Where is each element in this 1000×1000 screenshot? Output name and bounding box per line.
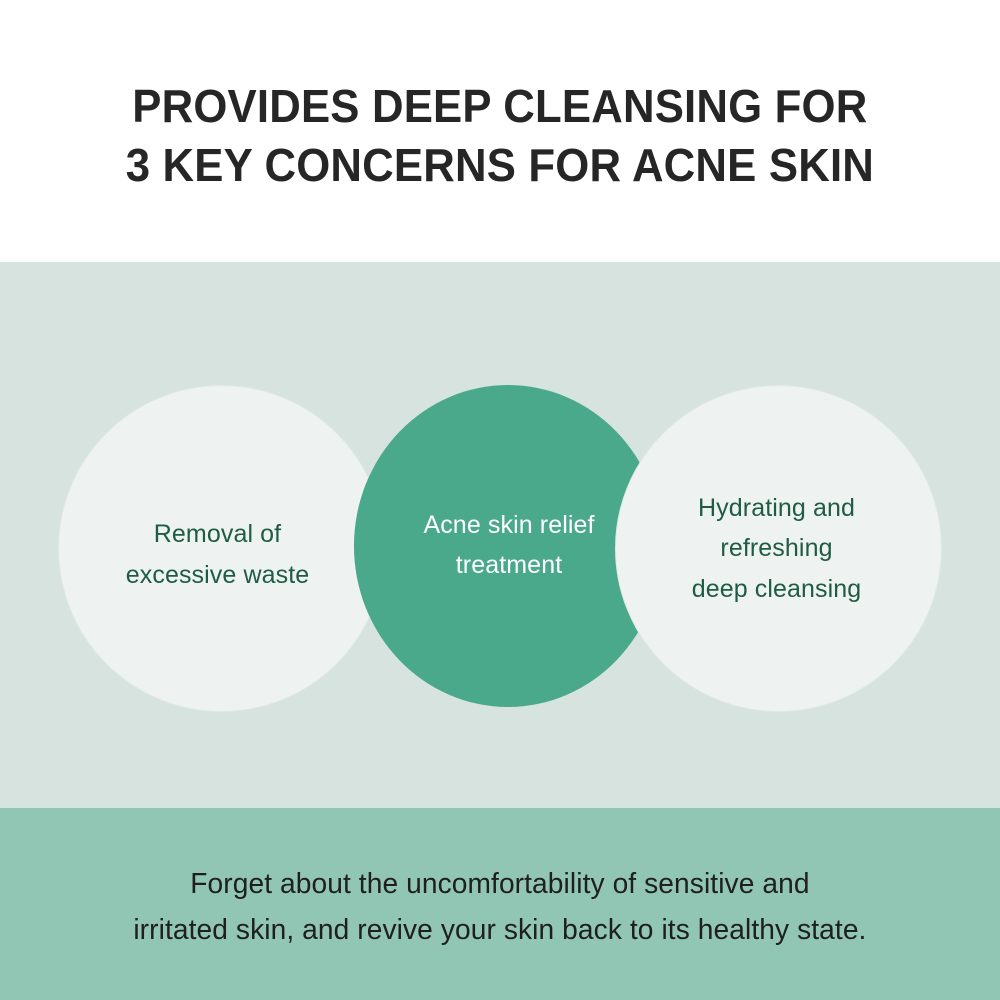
venn-circle-right: Hydrating and refreshing deep cleansing [615,385,942,712]
venn-circle-left-label-line-1: Removal of [126,514,310,555]
venn-circle-center-label: Acne skin relief treatment [397,505,620,586]
page-title-line-2: 3 KEY CONCERNS FOR ACNE SKIN [126,136,874,195]
venn-circle-center-label-line-2: treatment [423,545,594,586]
venn-circle-right-label-line-1: Hydrating and [692,488,862,529]
header-band: PROVIDES DEEP CLEANSING FOR 3 KEY CONCER… [0,0,1000,262]
footer-description: Forget about the uncomfortability of sen… [133,862,866,954]
venn-circle-left: Removal of excessive waste [58,385,385,712]
diagram-band: Removal of excessive waste Acne skin rel… [0,262,1000,808]
footer-band: Forget about the uncomfortability of sen… [0,808,1000,1000]
product-infographic-page: PROVIDES DEEP CLEANSING FOR 3 KEY CONCER… [0,0,1000,1000]
venn-circle-left-label-line-2: excessive waste [126,555,310,596]
footer-description-line-1: Forget about the uncomfortability of sen… [133,862,866,908]
page-title-line-1: PROVIDES DEEP CLEANSING FOR [126,77,874,136]
venn-circle-left-label: Removal of excessive waste [100,514,336,595]
page-title: PROVIDES DEEP CLEANSING FOR 3 KEY CONCER… [126,77,874,195]
venn-circle-right-label-line-3: deep cleansing [692,569,862,610]
footer-description-line-2: irritated skin, and revive your skin bac… [133,908,866,954]
venn-circle-right-label-line-2: refreshing [692,528,862,569]
venn-circle-center-label-line-1: Acne skin relief [423,505,594,546]
venn-diagram: Removal of excessive waste Acne skin rel… [0,262,1000,808]
venn-circle-right-label: Hydrating and refreshing deep cleansing [666,488,888,610]
